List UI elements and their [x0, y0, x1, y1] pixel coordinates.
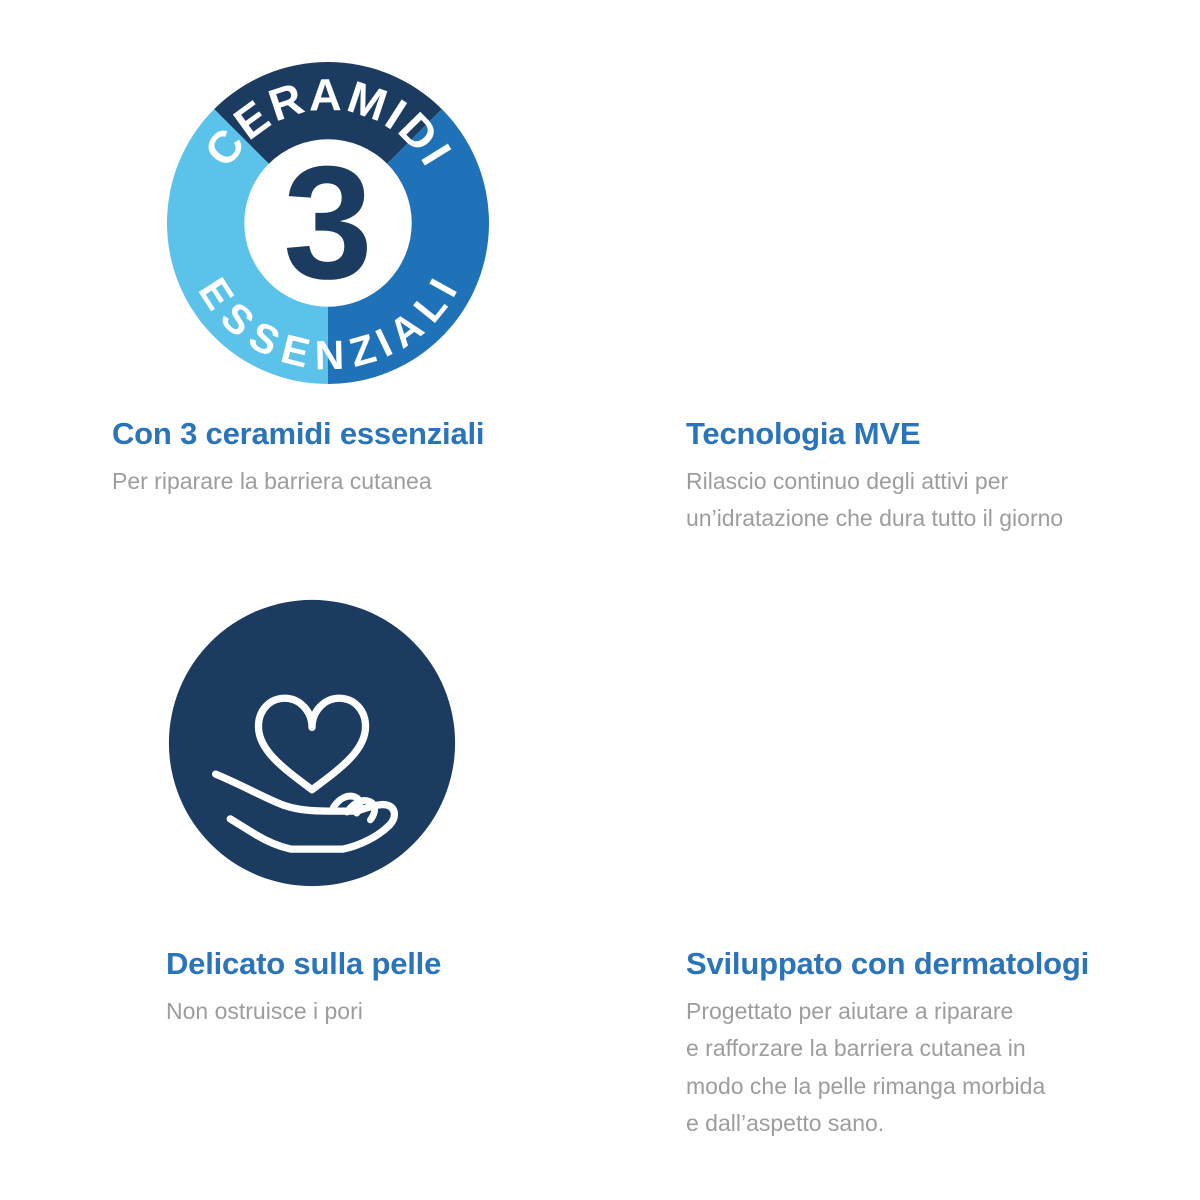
body-line: Progettato per aiutare a riparare: [686, 993, 1156, 1030]
feature-heading-ceramides: Con 3 ceramidi essenziali: [112, 418, 582, 449]
body-line: Rilascio continuo degli attivi per: [686, 463, 1156, 500]
feature-text-dermatologists: Sviluppato con dermatologi Progettato pe…: [686, 948, 1156, 1142]
feature-text-mve: Tecnologia MVE Rilascio continuo degli a…: [686, 418, 1156, 538]
ceramides-badge-icon: CERAMIDI ESSENZIALI 3: [167, 62, 489, 384]
feature-cell-gentle: [0, 580, 600, 1200]
feature-body-ceramides: Per riparare la barriera cutanea: [112, 463, 582, 500]
feature-body-mve: Rilascio continuo degli attivi per un’id…: [686, 463, 1156, 538]
body-line: modo che la pelle rimanga morbida: [686, 1068, 1156, 1105]
feature-heading-dermatologists: Sviluppato con dermatologi: [686, 948, 1156, 979]
body-line: e rafforzare la barriera cutanea in: [686, 1030, 1156, 1067]
gentle-circle-background: [169, 600, 455, 886]
body-line: Non ostruisce i pori: [166, 993, 636, 1030]
feature-heading-gentle: Delicato sulla pelle: [166, 948, 636, 979]
feature-text-gentle: Delicato sulla pelle Non ostruisce i por…: [166, 948, 636, 1030]
body-line: e dall’aspetto sano.: [686, 1105, 1156, 1142]
hand-holding-heart-icon: [166, 597, 458, 889]
ceramides-count-number: 3: [283, 133, 373, 313]
feature-grid-page: CERAMIDI ESSENZIALI 3: [0, 0, 1200, 1200]
body-line: Per riparare la barriera cutanea: [112, 463, 582, 500]
feature-body-dermatologists: Progettato per aiutare a riparare e raff…: [686, 993, 1156, 1142]
feature-text-ceramides: Con 3 ceramidi essenziali Per riparare l…: [112, 418, 582, 500]
body-line: un’idratazione che dura tutto il giorno: [686, 500, 1156, 537]
feature-heading-mve: Tecnologia MVE: [686, 418, 1156, 449]
feature-body-gentle: Non ostruisce i pori: [166, 993, 636, 1030]
